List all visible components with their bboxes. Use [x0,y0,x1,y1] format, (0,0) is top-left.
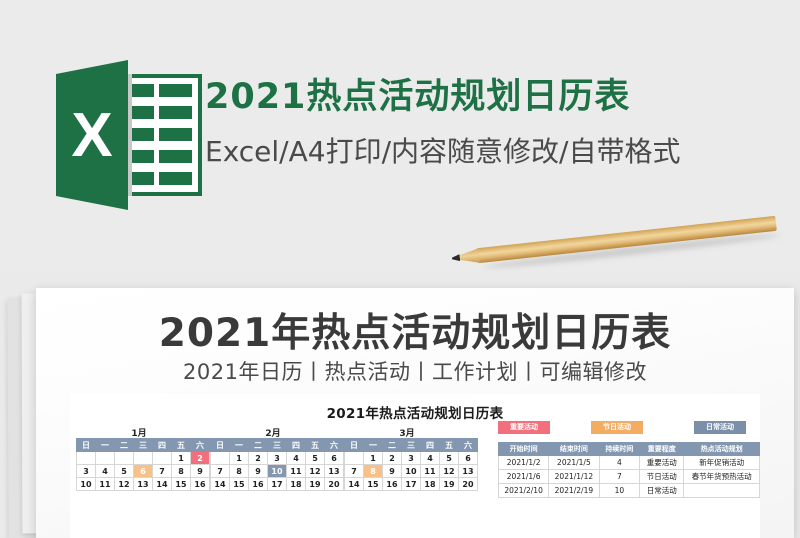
calendar-day-cell[interactable]: 12 [440,465,459,478]
plan-cell[interactable]: 春节年货预热活动 [684,470,760,484]
calendar-day-cell[interactable]: 10 [402,465,421,478]
calendar-day-cell[interactable]: 8 [172,465,191,478]
banner-title: 2021热点活动规划日历表 [205,68,630,119]
calendar-day-cell[interactable]: 13 [459,465,478,478]
legend-badge-daily: 日常活动 [694,421,746,434]
calendar-day-cell[interactable]: 19 [306,478,325,491]
calendar-week-row: 3456789 [77,465,210,478]
calendar-day-cell[interactable]: 2 [191,452,210,465]
calendar-day-cell[interactable]: 14 [211,478,230,491]
calendar-weekday-header: 日 [211,439,230,452]
calendar-week-row: 10111213141516 [77,478,210,491]
calendar-day-cell[interactable]: 13 [325,465,344,478]
calendar-day-cell[interactable]: 7 [345,465,364,478]
table-row[interactable]: 2021/2/102021/2/1910日常活动 [499,484,760,498]
calendar-day-cell[interactable]: 11 [287,465,306,478]
calendar-day-cell[interactable]: 2 [249,452,268,465]
spreadsheet-heading: 2021年热点活动规划日历表 [70,402,760,422]
calendar-weekday-header: 二 [115,439,134,452]
calendar-day-cell[interactable]: 9 [249,465,268,478]
calendar-week-row: 14151617181920 [211,478,344,491]
plan-cell[interactable]: 2021/1/6 [499,470,549,484]
plan-column-header: 热点活动规划 [684,443,760,456]
plan-cell[interactable]: 2021/1/12 [549,470,599,484]
calendar-weekday-header: 四 [421,439,440,452]
calendar-week-row: 14151617181920 [345,478,478,491]
calendar-week-row: 12 [77,452,210,465]
calendar-day-cell[interactable]: 10 [268,465,287,478]
calendar-day-cell[interactable]: 3 [402,452,421,465]
plan-column-header: 开始时间 [499,443,549,456]
calendar-week-row: 78910111213 [345,465,478,478]
calendar-weekday-header: 三 [402,439,421,452]
calendar-weekday-header: 一 [96,439,115,452]
excel-logo-icon: X [56,60,206,210]
calendar-day-cell[interactable]: 19 [440,478,459,491]
legend-badge-important: 重要活动 [498,421,550,434]
calendar-day-cell[interactable]: 1 [230,452,249,465]
calendar-day-cell[interactable]: 11 [96,478,115,491]
calendar-day-cell[interactable]: 6 [134,465,153,478]
calendar-day-cell[interactable]: 4 [287,452,306,465]
plan-cell[interactable]: 7 [599,470,640,484]
plan-cell[interactable]: 10 [599,484,640,498]
calendar-day-cell[interactable]: 6 [459,452,478,465]
calendar-day-cell[interactable]: 20 [459,478,478,491]
calendar-weekday-row: 日一二三四五六 [77,439,210,452]
calendar-day-cell[interactable]: 8 [364,465,383,478]
calendar-weekday-header: 六 [191,439,210,452]
calendar-day-cell[interactable]: 1 [172,452,191,465]
plan-column-header: 持续时间 [599,443,640,456]
calendar-day-cell[interactable]: 12 [306,465,325,478]
calendar-day-cell[interactable]: 7 [153,465,172,478]
calendar-weekday-header: 日 [77,439,96,452]
calendar-weekday-header: 四 [287,439,306,452]
calendar-weekday-header: 五 [172,439,191,452]
plan-column-header: 重要程度 [640,443,684,456]
calendar-day-cell[interactable]: 5 [115,465,134,478]
plan-cell[interactable]: 4 [599,456,640,470]
calendar-weekday-row: 日一二三四五六 [345,439,478,452]
plan-cell[interactable]: 重要活动 [640,456,684,470]
calendar-weekday-header: 六 [325,439,344,452]
legend-badge-holiday: 节日活动 [591,421,643,434]
calendar-week-row: 78910111213 [211,465,344,478]
plan-cell[interactable]: 2021/1/2 [499,456,549,470]
calendar-day-cell[interactable]: 3 [268,452,287,465]
calendar-grid: 日一二三四五六1234567891011121314151617181920 [210,438,344,491]
calendar-day-cell[interactable]: 5 [440,452,459,465]
calendar-month-label: 3月 [344,426,470,439]
plan-cell[interactable]: 2021/2/19 [549,484,599,498]
plan-cell[interactable]: 节日活动 [640,470,684,484]
calendar-day-cell[interactable]: 16 [249,478,268,491]
calendar-weekday-header: 六 [459,439,478,452]
calendar-empty-cell [77,452,96,465]
pencil-lead-icon [452,254,461,262]
calendar-day-cell[interactable]: 14 [345,478,364,491]
calendar-day-cell[interactable]: 9 [191,465,210,478]
plan-cell[interactable]: 2021/1/5 [549,456,599,470]
document-page: 2021年热点活动规划日历表 2021年日历丨热点活动丨工作计划丨可编辑修改 2… [36,288,794,538]
calendar-day-cell[interactable]: 12 [115,478,134,491]
calendar-weekday-header: 四 [153,439,172,452]
calendar-day-cell[interactable]: 4 [96,465,115,478]
calendar-weekday-header: 一 [230,439,249,452]
plan-cell[interactable]: 新年促销活动 [684,456,760,470]
legend: 重要活动 节日活动 日常活动 [498,421,756,435]
calendar-empty-cell [134,452,153,465]
calendar-empty-cell [211,452,230,465]
table-row[interactable]: 2021/1/22021/1/54重要活动新年促销活动 [499,456,760,470]
calendar-day-cell[interactable]: 8 [230,465,249,478]
plan-cell[interactable] [684,484,760,498]
calendar-day-cell[interactable]: 5 [306,452,325,465]
excel-fold: X [56,60,128,210]
banner-subtitle: Excel/A4打印/内容随意修改/自带格式 [205,130,680,170]
calendar-grid: 日一二三四五六1234567891011121314151617181920 [344,438,478,491]
calendar-day-cell[interactable]: 7 [211,465,230,478]
document-title: 2021年热点活动规划日历表 [36,302,794,358]
calendar-day-cell[interactable]: 16 [191,478,210,491]
calendar-day-cell[interactable]: 11 [421,465,440,478]
document-subtitle: 2021年日历丨热点活动丨工作计划丨可编辑修改 [36,356,794,386]
calendar-weekday-header: 五 [440,439,459,452]
calendar-day-cell[interactable]: 9 [383,465,402,478]
calendar-day-cell[interactable]: 15 [364,478,383,491]
calendar-day-cell[interactable]: 18 [287,478,306,491]
plan-cell[interactable]: 2021/2/10 [499,484,549,498]
calendar-day-cell[interactable]: 10 [77,478,96,491]
calendar-day-cell[interactable]: 16 [383,478,402,491]
calendar-weekday-header: 二 [383,439,402,452]
calendar-day-cell[interactable]: 18 [421,478,440,491]
calendar-empty-cell [345,452,364,465]
pencil-wood-tip [457,248,480,265]
excel-letter-x: X [56,60,128,210]
calendar-day-cell[interactable]: 14 [153,478,172,491]
calendar-weekday-header: 二 [249,439,268,452]
calendar-month-3[interactable]: 3月 日一二三四五六123456789101112131415161718192… [344,438,478,491]
calendar-weekday-header: 日 [345,439,364,452]
calendar-weekday-header: 五 [306,439,325,452]
calendar-day-cell[interactable]: 15 [230,478,249,491]
calendar-day-cell[interactable]: 15 [172,478,191,491]
calendar-day-cell[interactable]: 1 [364,452,383,465]
calendar-day-cell[interactable]: 17 [402,478,421,491]
calendar-day-cell[interactable]: 6 [325,452,344,465]
calendar-weekday-header: 三 [268,439,287,452]
calendar-month-label: 1月 [76,426,202,439]
calendar-empty-cell [153,452,172,465]
table-row[interactable]: 2021/1/62021/1/127节日活动春节年货预热活动 [499,470,760,484]
activity-plan-table[interactable]: 开始时间结束时间持续时间重要程度热点活动规划 2021/1/22021/1/54… [498,442,760,498]
calendar-weekday-header: 三 [134,439,153,452]
calendar-week-row: 123456 [345,452,478,465]
calendar-day-cell[interactable]: 13 [134,478,153,491]
calendar-grid: 日一二三四五六12345678910111213141516 [76,438,210,491]
plan-cell[interactable]: 日常活动 [640,484,684,498]
calendar-day-cell[interactable]: 3 [77,465,96,478]
calendar-empty-cell [96,452,115,465]
calendar-day-cell[interactable]: 2 [383,452,402,465]
plan-column-header: 结束时间 [549,443,599,456]
calendar-month-label: 2月 [210,426,336,439]
calendar-day-cell[interactable]: 20 [325,478,344,491]
calendar-weekday-row: 日一二三四五六 [211,439,344,452]
page-bottom-fade [36,512,794,538]
calendar-day-cell[interactable]: 4 [421,452,440,465]
calendar-empty-cell [115,452,134,465]
plan-header-row: 开始时间结束时间持续时间重要程度热点活动规划 [499,443,760,456]
calendar-day-cell[interactable]: 17 [268,478,287,491]
calendar-weekday-header: 一 [364,439,383,452]
calendar-month-1[interactable]: 1月 日一二三四五六12345678910111213141516 [76,438,210,491]
calendar-month-2[interactable]: 2月 日一二三四五六123456789101112131415161718192… [210,438,344,491]
calendar-week-row: 123456 [211,452,344,465]
